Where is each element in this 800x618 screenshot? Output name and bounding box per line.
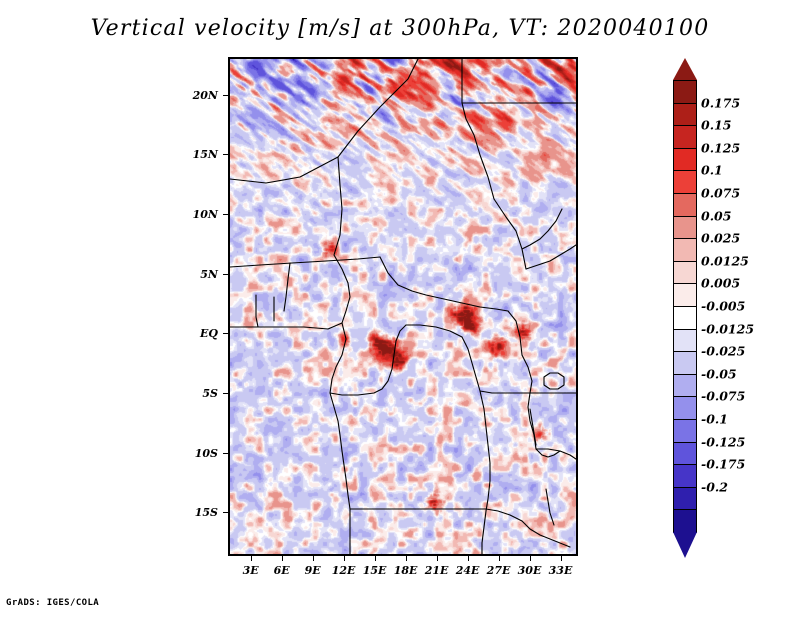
y-tick-mark [223,154,228,155]
colorbar-tick-label: 0.125 [701,140,740,155]
colorbar-band [673,125,697,149]
colorbar-band [673,103,697,127]
y-tick-label: 5N [162,268,218,281]
x-tick-mark [437,556,438,561]
x-tick-mark [251,556,252,561]
y-tick-label: 10N [162,208,218,221]
colorbar-tick-label: -0.05 [701,366,737,381]
colorbar-band [673,464,697,488]
y-tick-mark [223,333,228,334]
colorbar-tick-label: -0.075 [701,389,745,404]
colorbar-tick-label: 0.025 [701,231,740,246]
colorbar-band [673,396,697,420]
footer-credit: GrADS: IGES/COLA [6,598,99,608]
colorbar-max-arrow [673,58,697,80]
x-tick-mark [499,556,500,561]
colorbar-band [673,148,697,172]
colorbar-tick-label: -0.1 [701,412,728,427]
colorbar-band [673,509,697,533]
x-tick-mark [375,556,376,561]
y-tick-label: 5S [162,387,218,400]
x-tick-label: 33E [537,564,585,577]
page-title: Vertical velocity [m/s] at 300hPa, VT: 2… [0,16,800,41]
y-tick-mark [223,274,228,275]
colorbar-tick-label: 0.0125 [701,253,749,268]
y-tick-mark [223,393,228,394]
colorbar-band [673,261,697,285]
x-tick-mark [282,556,283,561]
y-tick-mark [223,214,228,215]
colorbar-band [673,216,697,240]
x-tick-mark [561,556,562,561]
colorbar-tick-label: 0.005 [701,276,740,291]
colorbar-band [673,80,697,104]
y-tick-mark [223,512,228,513]
x-tick-mark [530,556,531,561]
y-tick-label: 15S [162,506,218,519]
colorbar-band [673,238,697,262]
colorbar-band [673,487,697,511]
colorbar-tick-label: -0.025 [701,344,745,359]
y-tick-label: EQ [162,327,218,340]
colorbar-band [673,170,697,194]
x-tick-mark [344,556,345,561]
colorbar-band [673,193,697,217]
colorbar-band [673,442,697,466]
colorbar-band [673,351,697,375]
colorbar-band [673,306,697,330]
colorbar-legend: 0.1750.150.1250.10.0750.050.0250.01250.0… [673,58,697,558]
colorbar-tick-label: -0.0125 [701,321,754,336]
map-plot-area [228,57,578,556]
y-tick-label: 10S [162,447,218,460]
colorbar-tick-label: -0.2 [701,479,728,494]
colorbar-tick-label: 0.075 [701,186,740,201]
y-tick-label: 15N [162,148,218,161]
colorbar-tick-label: -0.175 [701,457,745,472]
colorbar-band [673,419,697,443]
x-tick-mark [406,556,407,561]
x-tick-mark [313,556,314,561]
colorbar-tick-label: -0.005 [701,299,745,314]
colorbar-band [673,329,697,353]
y-tick-mark [223,95,228,96]
colorbar-tick-label: 0.15 [701,118,731,133]
colorbar-band [673,283,697,307]
colorbar-tick-label: 0.1 [701,163,723,178]
y-tick-mark [223,453,228,454]
colorbar-tick-label: 0.175 [701,95,740,110]
x-tick-mark [468,556,469,561]
colorbar-tick-label: 0.05 [701,208,731,223]
colorbar-tick-label: -0.125 [701,434,745,449]
colorbar-min-arrow [673,532,697,558]
colorbar-band [673,374,697,398]
country-borders-overlay [230,59,576,554]
y-tick-label: 20N [162,89,218,102]
